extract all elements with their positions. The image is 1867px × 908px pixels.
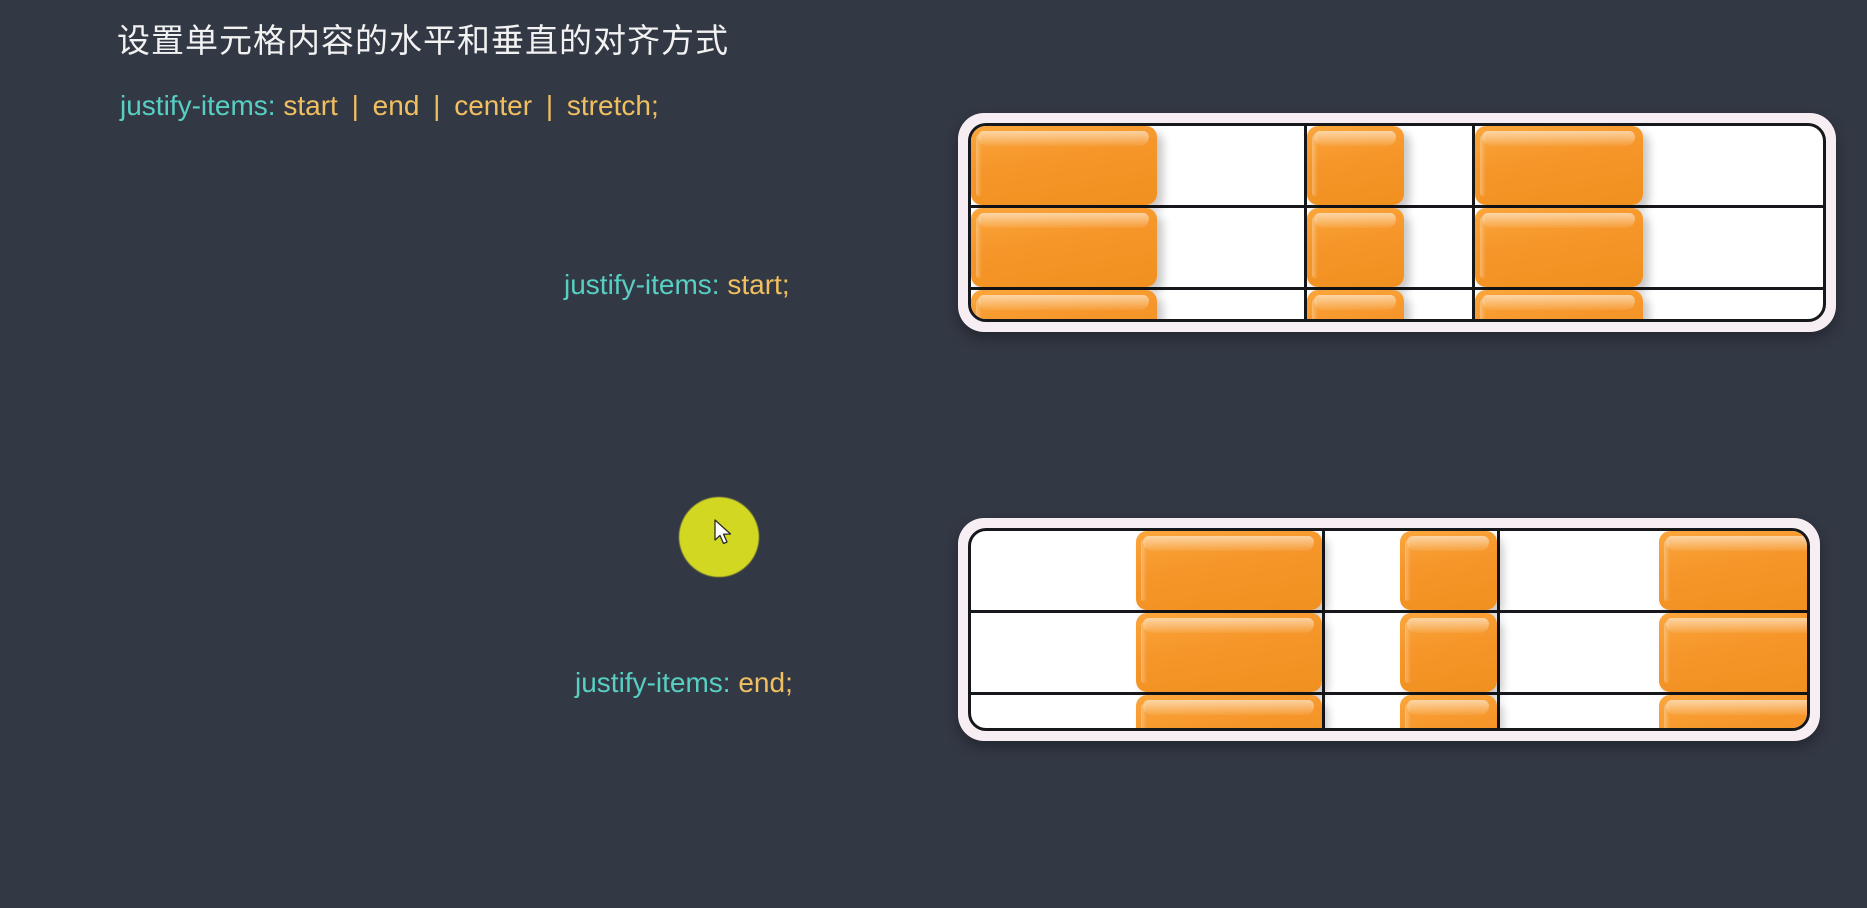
grid-item xyxy=(1400,695,1497,731)
grid-container-end xyxy=(968,528,1810,731)
grid-item xyxy=(971,126,1157,205)
syntax-value-end: end xyxy=(373,90,420,121)
grid-demo-justify-items-start xyxy=(958,113,1836,332)
grid-container-start xyxy=(968,123,1826,322)
grid-cell xyxy=(1325,531,1500,613)
caption-terminator-end: ; xyxy=(785,667,793,698)
grid-cell xyxy=(1307,290,1475,322)
slide-canvas: 设置单元格内容的水平和垂直的对齐方式 justify-items: start … xyxy=(0,0,1867,908)
syntax-property: justify-items: xyxy=(120,90,276,121)
grid-cell xyxy=(971,126,1307,208)
grid-cell xyxy=(1325,695,1500,731)
grid-cell xyxy=(1500,613,1810,695)
syntax-value-center: center xyxy=(454,90,532,121)
grid-item xyxy=(1400,531,1497,610)
grid-item xyxy=(1475,208,1643,287)
caption-property-end: justify-items: xyxy=(575,667,731,698)
grid-cell xyxy=(971,695,1325,731)
grid-item xyxy=(1136,695,1322,731)
grid-item xyxy=(971,208,1157,287)
grid-cell xyxy=(1475,126,1826,208)
grid-cell xyxy=(971,613,1325,695)
grid-cell xyxy=(1500,531,1810,613)
syntax-separator-2: | xyxy=(427,90,446,121)
grid-item xyxy=(1136,531,1322,610)
grid-cell xyxy=(1500,695,1810,731)
syntax-value-start: start xyxy=(283,90,337,121)
grid-cell xyxy=(1475,290,1826,322)
syntax-line: justify-items: start | end | center | st… xyxy=(120,86,659,126)
grid-item xyxy=(1136,613,1322,692)
caption-justify-items-end: justify-items: end; xyxy=(575,663,793,703)
syntax-terminator: ; xyxy=(651,90,659,121)
caption-value-end: end xyxy=(738,667,785,698)
caption-terminator-start: ; xyxy=(782,269,790,300)
grid-cell xyxy=(971,531,1325,613)
grid-cell xyxy=(971,290,1307,322)
syntax-value-stretch: stretch xyxy=(567,90,651,121)
grid-demo-justify-items-end xyxy=(958,518,1820,741)
mouse-pointer-icon xyxy=(714,519,734,545)
grid-cell xyxy=(1307,208,1475,290)
page-title: 设置单元格内容的水平和垂直的对齐方式 xyxy=(117,18,729,64)
caption-justify-items-start: justify-items: start; xyxy=(564,265,790,305)
grid-cell xyxy=(1325,613,1500,695)
grid-cell xyxy=(1475,208,1826,290)
grid-item xyxy=(1307,290,1404,322)
grid-cell xyxy=(971,208,1307,290)
syntax-separator-1: | xyxy=(346,90,365,121)
grid-cell xyxy=(1307,126,1475,208)
caption-property-start: justify-items: xyxy=(564,269,720,300)
grid-item xyxy=(1659,531,1810,610)
grid-item xyxy=(1659,695,1810,731)
grid-item xyxy=(1400,613,1497,692)
grid-item xyxy=(1307,126,1404,205)
grid-item xyxy=(1475,126,1643,205)
syntax-separator-3: | xyxy=(540,90,559,121)
grid-item xyxy=(1475,290,1643,322)
caption-value-start: start xyxy=(727,269,781,300)
grid-item xyxy=(971,290,1157,322)
grid-item xyxy=(1307,208,1404,287)
grid-item xyxy=(1659,613,1810,692)
